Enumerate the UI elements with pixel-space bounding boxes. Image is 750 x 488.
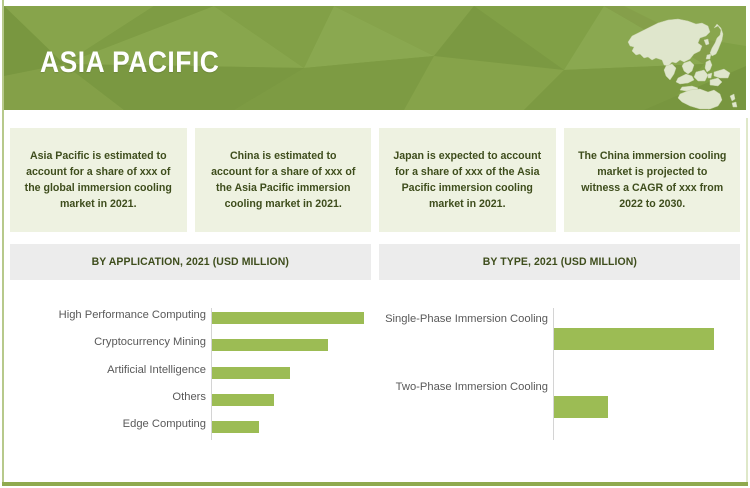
insight-card-text: Asia Pacific is estimated to account for…	[24, 148, 173, 213]
infographic-page: ASIA PACIFIC	[0, 0, 750, 488]
chart-by-type: Single-Phase Immersion Cooling Two-Phase…	[380, 300, 740, 460]
frame-border-right	[746, 118, 748, 486]
section-header-label: BY APPLICATION, 2021 (USD MILLION)	[92, 256, 289, 268]
insight-card-text: The China immersion cooling market is pr…	[577, 148, 726, 213]
section-header-bars: BY APPLICATION, 2021 (USD MILLION) BY TY…	[10, 244, 740, 280]
insight-card-china-cagr: The China immersion cooling market is pr…	[564, 128, 741, 232]
section-header-label: BY TYPE, 2021 (USD MILLION)	[482, 256, 636, 268]
insight-card-japan: Japan is expected to account for a share…	[379, 128, 556, 232]
bar-label: High Performance Computing	[10, 309, 206, 323]
bar-value	[212, 367, 290, 379]
bar-label: Two-Phase Immersion Cooling	[380, 381, 548, 395]
bar-label: Cryptocurrency Mining	[10, 336, 206, 350]
header-banner: ASIA PACIFIC	[4, 6, 746, 110]
bar-value	[212, 312, 364, 324]
bar-value	[554, 396, 608, 418]
bar-value	[212, 421, 259, 433]
page-title: ASIA PACIFIC	[40, 46, 219, 80]
asia-pacific-map-icon	[622, 10, 740, 110]
bar-label: Artificial Intelligence	[10, 364, 206, 378]
bar-value	[212, 339, 328, 351]
bar-label: Single-Phase Immersion Cooling	[380, 313, 548, 327]
charts-row: High Performance Computing Cryptocurrenc…	[10, 300, 740, 460]
bar-value	[554, 328, 714, 350]
insight-card-china: China is estimated to account for a shar…	[195, 128, 372, 232]
bar-label: Edge Computing	[10, 418, 206, 432]
bar-value	[212, 394, 274, 406]
section-header-by-type: BY TYPE, 2021 (USD MILLION)	[379, 244, 740, 280]
insight-card-text: Japan is expected to account for a share…	[393, 148, 542, 213]
bar-label: Others	[10, 391, 206, 405]
chart-by-application: High Performance Computing Cryptocurrenc…	[10, 300, 370, 460]
insight-card-asia-pacific: Asia Pacific is estimated to account for…	[10, 128, 187, 232]
insight-card-text: China is estimated to account for a shar…	[208, 148, 357, 213]
frame-border-bottom	[2, 482, 748, 486]
section-header-by-application: BY APPLICATION, 2021 (USD MILLION)	[10, 244, 371, 280]
insight-cards-row: Asia Pacific is estimated to account for…	[10, 128, 740, 232]
